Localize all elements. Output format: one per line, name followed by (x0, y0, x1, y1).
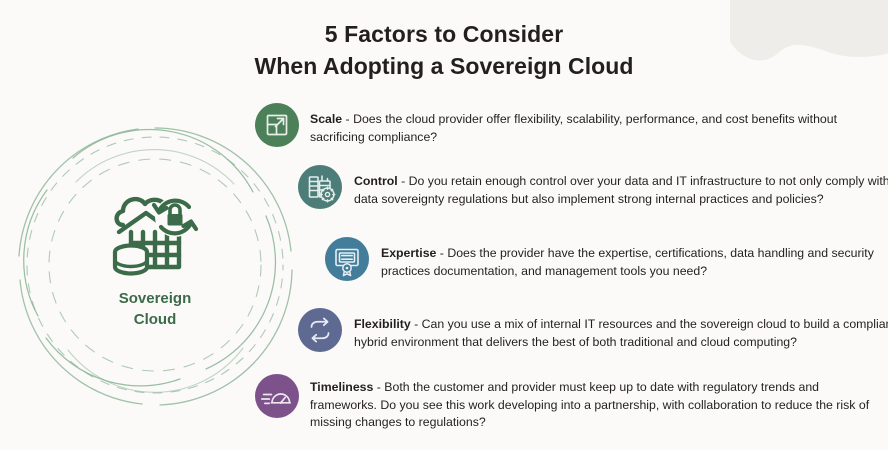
factor-separator-timeliness: - (373, 380, 384, 394)
factor-text-control: Control - Do you retain enough control o… (354, 173, 888, 208)
factor-desc-flexibility: Can you use a mix of internal IT resourc… (354, 317, 888, 349)
factor-item-flexibility: Flexibility - Can you use a mix of inter… (298, 308, 888, 352)
factor-term-scale: Scale (310, 112, 342, 126)
factor-bullet-control (298, 165, 342, 209)
factor-item-control: Control - Do you retain enough control o… (298, 165, 888, 209)
page-title: 5 Factors to Consider When Adopting a So… (0, 18, 888, 82)
factor-term-expertise: Expertise (381, 246, 436, 260)
factor-desc-expertise: Does the provider have the expertise, ce… (381, 246, 874, 278)
sovereign-cloud-icon (105, 185, 205, 285)
emblem-label-line-1: Sovereign (10, 288, 300, 309)
factor-text-scale: Scale - Does the cloud provider offer fl… (310, 111, 856, 146)
factor-bullet-expertise (325, 237, 369, 281)
factor-bullet-flexibility (298, 308, 342, 352)
factor-term-flexibility: Flexibility (354, 317, 411, 331)
factor-desc-control: Do you retain enough control over your d… (354, 174, 888, 206)
certificate-monitor-icon (325, 237, 369, 281)
expand-arrow-icon (255, 103, 299, 147)
factor-item-timeliness: Timeliness - Both the customer and provi… (255, 374, 872, 432)
factor-separator-scale: - (342, 112, 353, 126)
factor-desc-timeliness: Both the customer and provider must keep… (310, 380, 869, 429)
factor-text-flexibility: Flexibility - Can you use a mix of inter… (354, 316, 888, 351)
factor-bullet-scale (255, 103, 299, 147)
speedometer-icon (255, 374, 299, 418)
exchange-arrows-icon (298, 308, 342, 352)
factor-item-expertise: Expertise - Does the provider have the e… (325, 237, 886, 281)
wave-decoration (730, 0, 888, 76)
infographic-canvas: 5 Factors to Consider When Adopting a So… (0, 0, 888, 450)
title-line-1: 5 Factors to Consider (0, 18, 888, 50)
factor-term-timeliness: Timeliness (310, 380, 373, 394)
sovereign-cloud-emblem: Sovereign Cloud (10, 120, 300, 410)
factor-item-scale: Scale - Does the cloud provider offer fl… (255, 103, 856, 147)
factor-separator-expertise: - (436, 246, 447, 260)
factor-separator-flexibility: - (411, 317, 422, 331)
factor-text-timeliness: Timeliness - Both the customer and provi… (310, 379, 872, 432)
server-gear-icon (298, 165, 342, 209)
factor-term-control: Control (354, 174, 398, 188)
factor-separator-control: - (398, 174, 409, 188)
factor-text-expertise: Expertise - Does the provider have the e… (381, 245, 886, 280)
emblem-label: Sovereign Cloud (10, 288, 300, 330)
title-line-2: When Adopting a Sovereign Cloud (0, 50, 888, 82)
factor-desc-scale: Does the cloud provider offer flexibilit… (310, 112, 837, 144)
emblem-label-line-2: Cloud (10, 309, 300, 330)
factor-bullet-timeliness (255, 374, 299, 418)
